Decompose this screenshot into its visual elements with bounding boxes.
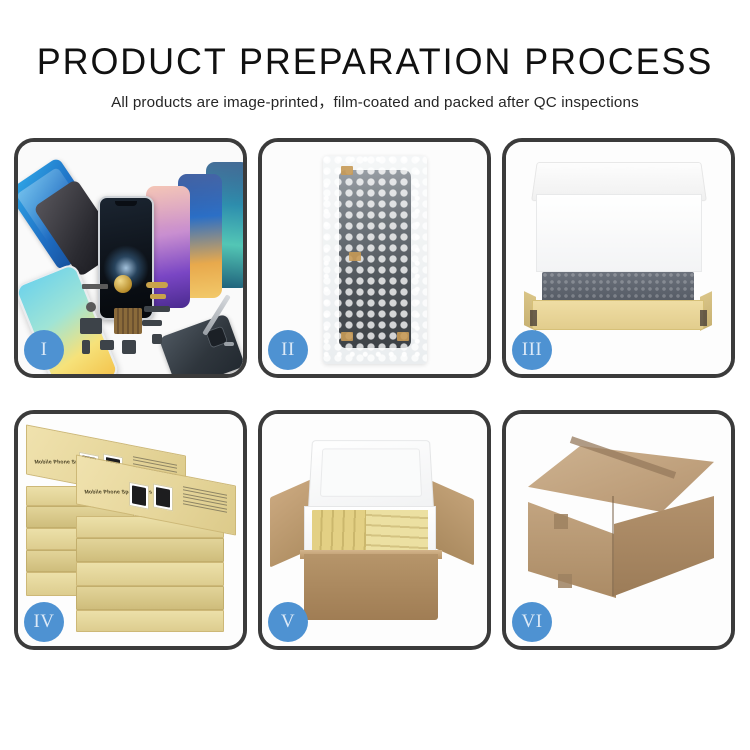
header: PRODUCT PREPARATION PROCESS All products… (0, 40, 750, 113)
box-label-lines-front (183, 486, 227, 515)
part-screws (224, 342, 234, 346)
box-label-thumb-front-2 (153, 483, 173, 511)
foam-box-lid (308, 440, 434, 510)
phone-notch (115, 201, 137, 206)
stack-right-layer-2 (76, 538, 224, 562)
part-gold-connector (146, 282, 168, 288)
stack-right-layer-5 (76, 610, 224, 632)
part-bracket (80, 318, 102, 334)
stack-right-layer-4 (76, 586, 224, 610)
carton-tab-lower (558, 574, 572, 588)
part-sim-tray (82, 340, 90, 354)
process-step-grid: I II (14, 138, 736, 694)
tape-piece-top (341, 166, 353, 175)
process-step-5: V (258, 410, 491, 650)
part-gold-flex (150, 294, 166, 299)
carton-tab-upper (554, 514, 568, 529)
white-foam-sheet (536, 194, 702, 272)
part-taptic-engine (122, 340, 136, 354)
product-preparation-process-infographic: PRODUCT PREPARATION PROCESS All products… (0, 0, 750, 750)
step-badge-1: I (24, 330, 64, 370)
vibration-motor-part (114, 275, 132, 293)
process-step-4: Mobile Phone Spare Parts Mobile Phone Sp… (14, 410, 247, 650)
tape-piece-bottom-right (397, 332, 409, 341)
tape-piece-middle (349, 252, 361, 261)
part-flex-cable-short (142, 320, 162, 326)
process-step-2: II (258, 138, 491, 378)
carton-left-face (528, 502, 616, 598)
step-badge-3: III (512, 330, 552, 370)
page-subtitle: All products are image-printed，film-coat… (0, 93, 750, 113)
part-camera-module (100, 340, 114, 350)
carton-front-edge (612, 496, 614, 596)
bubble-texture (323, 156, 427, 364)
bubble-wrapped-contents (542, 272, 694, 302)
page-title: PRODUCT PREPARATION PROCESS (11, 40, 739, 84)
retail-box-stack: Mobile Phone Spare Parts Mobile Phone Sp… (24, 430, 239, 630)
screw-tray-part (114, 308, 142, 334)
carton-right-face (614, 496, 714, 596)
phone-black-glass-front (98, 196, 154, 320)
part-button (86, 302, 96, 312)
step-badge-4: IV (24, 602, 64, 642)
stack-right-layer-3 (76, 562, 224, 586)
box-corner-tab-left (530, 310, 537, 326)
process-step-3: III (502, 138, 735, 378)
step-badge-5: V (268, 602, 308, 642)
carton-front-panel (304, 554, 438, 620)
tape-piece-bottom-left (341, 332, 353, 341)
box-label-thumb-front-1 (129, 482, 149, 510)
step-badge-6: VI (512, 602, 552, 642)
process-step-6: VI (502, 410, 735, 650)
box-corner-tab-right (700, 310, 707, 326)
part-flex-cable-long (144, 306, 170, 312)
part-speaker-mesh (82, 284, 108, 289)
step-badge-2: II (268, 330, 308, 370)
yellow-boxes-row-right (366, 510, 428, 554)
bubble-wrap-bag (323, 156, 427, 364)
part-chip (152, 334, 162, 344)
box-front-panel (532, 300, 704, 330)
process-step-1: I (14, 138, 247, 378)
